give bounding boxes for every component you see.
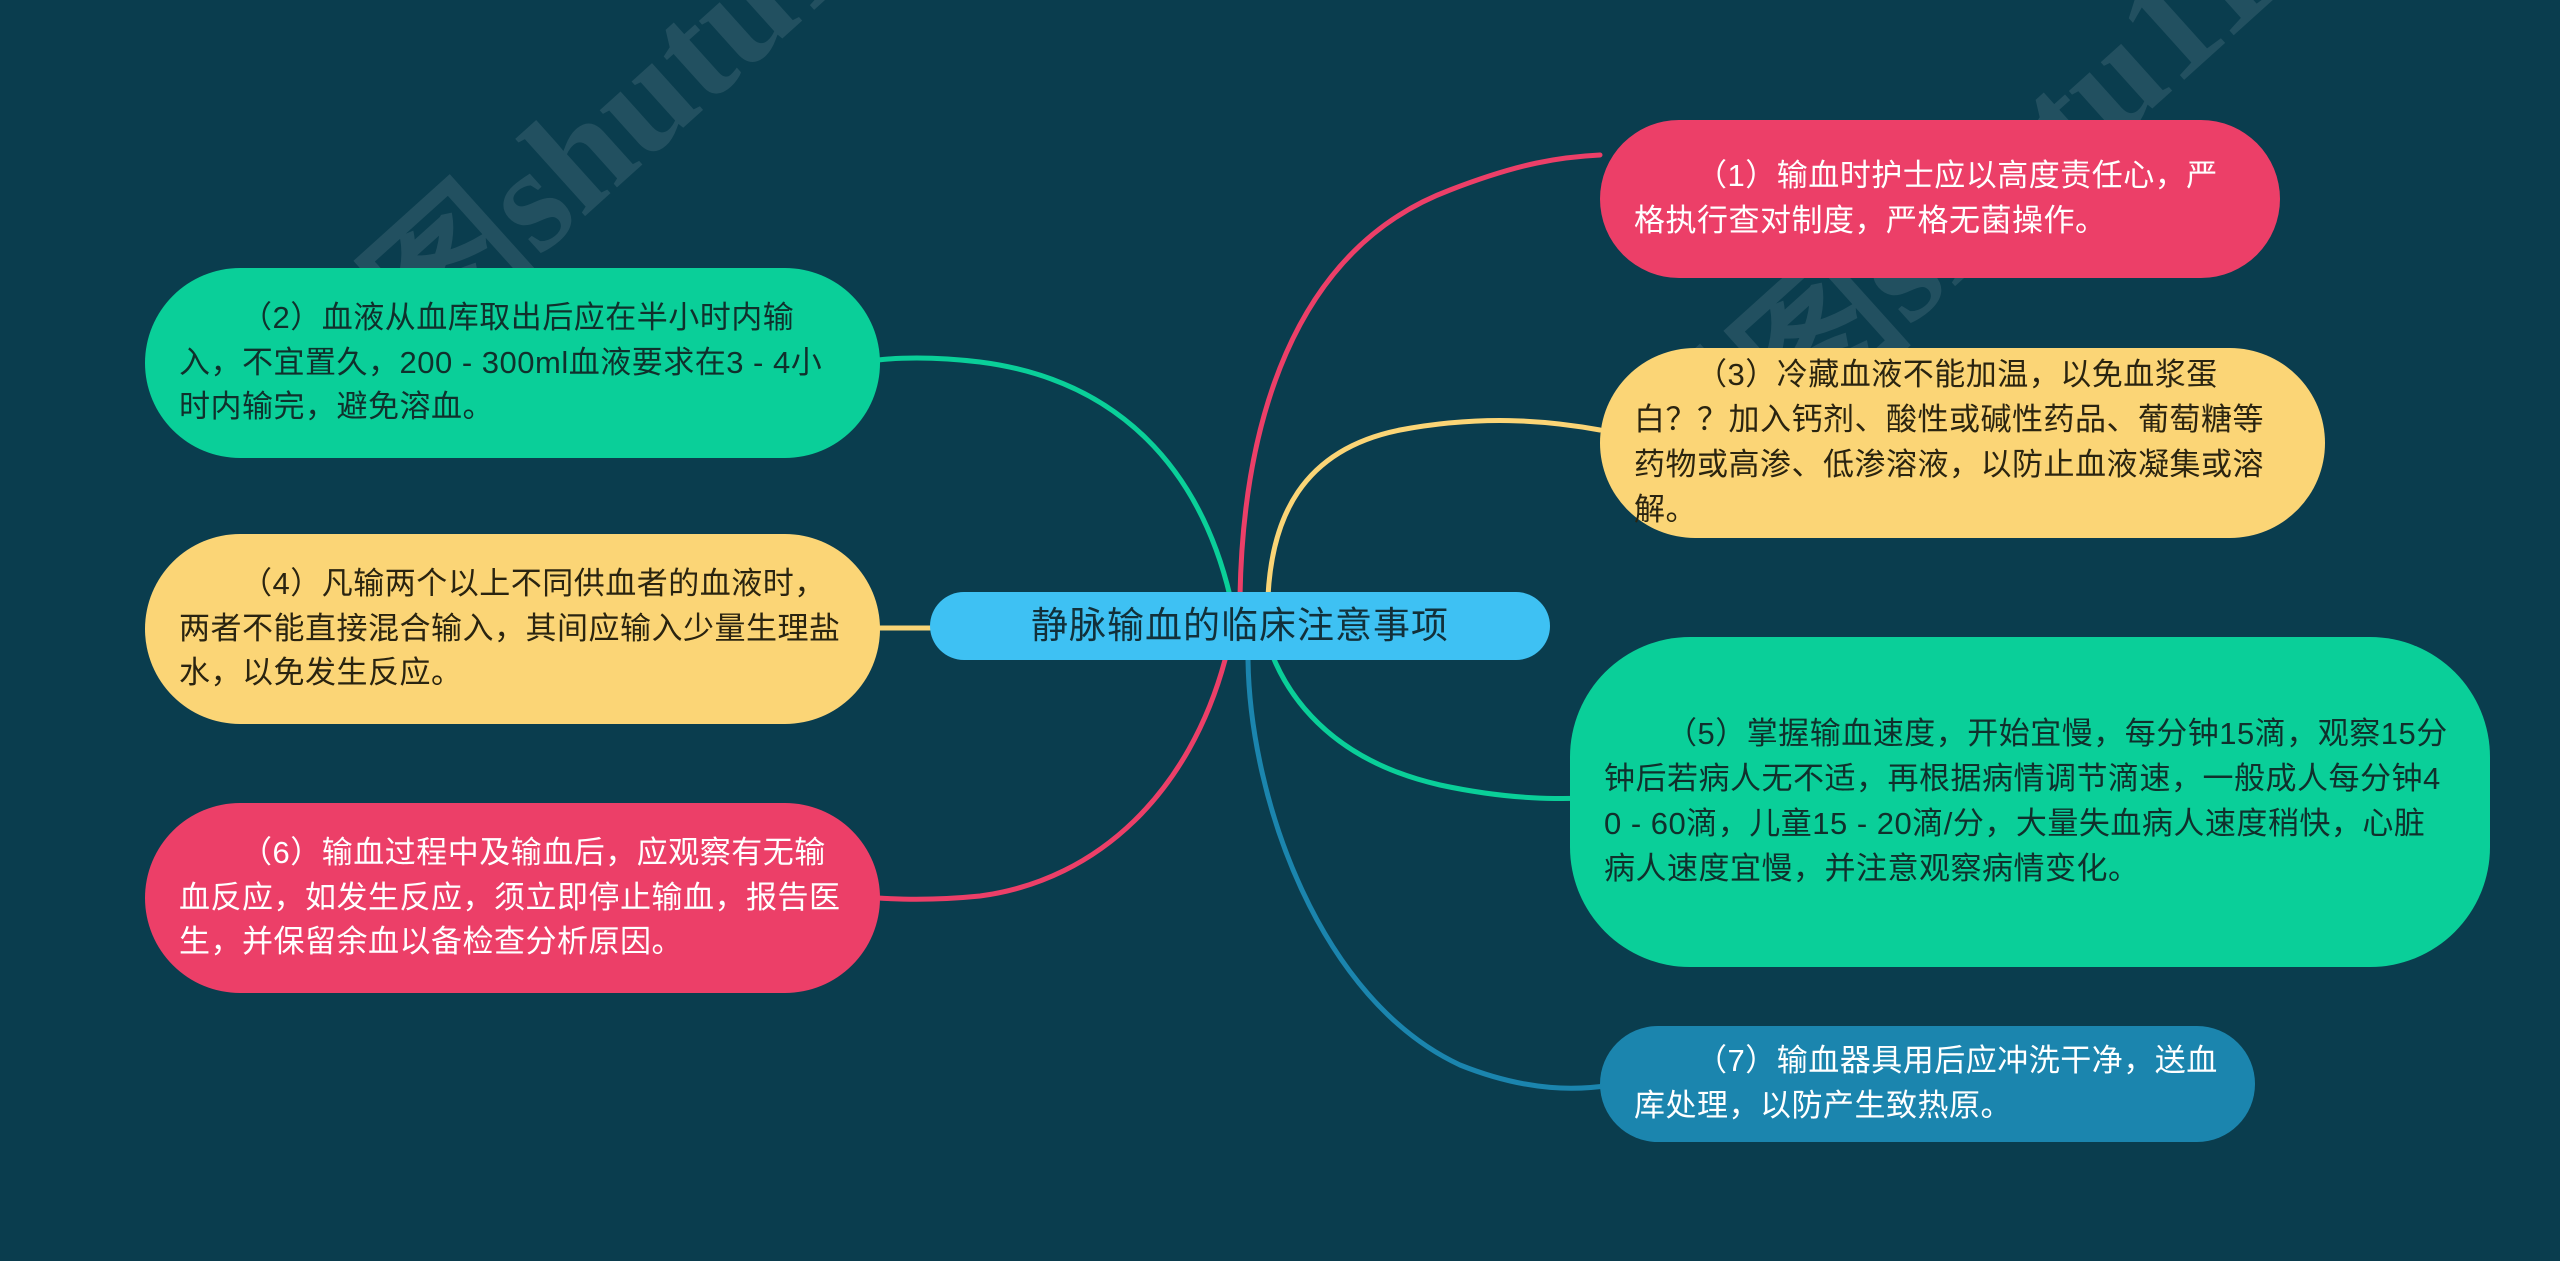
branch-node-1-label: （1）输血时护士应以高度责任心，严格执行查对制度，严格无菌操作。 bbox=[1634, 154, 2246, 244]
branch-node-5-label: （5）掌握输血速度，开始宜慢，每分钟15滴，观察15分钟后若病人无不适，再根据病… bbox=[1604, 712, 2456, 892]
connector-to-node-6 bbox=[878, 660, 1225, 899]
central-topic-node[interactable]: 静脉输血的临床注意事项 bbox=[930, 592, 1550, 660]
central-topic-label: 静脉输血的临床注意事项 bbox=[930, 599, 1550, 653]
mindmap-canvas: 树图shutu11.cn 树图shutu11.cn 静脉输血的临床注意事项 （1… bbox=[0, 0, 2560, 1261]
branch-node-6-label: （6）输血过程中及输血后，应观察有无输血反应，如发生反应，须立即停止输血，报告医… bbox=[179, 831, 846, 966]
connector-to-node-2 bbox=[878, 358, 1230, 596]
branch-node-3[interactable]: （3）冷藏血液不能加温，以免血浆蛋白？？加入钙剂、酸性或碱性药品、葡萄糖等药物或… bbox=[1600, 348, 2325, 538]
branch-node-4[interactable]: （4）凡输两个以上不同供血者的血液时，两者不能直接混合输入，其间应输入少量生理盐… bbox=[145, 534, 880, 724]
branch-node-2-label: （2）血液从血库取出后应在半小时内输入，不宜置久，200 - 300ml血液要求… bbox=[179, 296, 846, 431]
connector-to-node-1 bbox=[1240, 155, 1600, 596]
branch-node-3-label: （3）冷藏血液不能加温，以免血浆蛋白？？加入钙剂、酸性或碱性药品、葡萄糖等药物或… bbox=[1634, 353, 2291, 533]
branch-node-2[interactable]: （2）血液从血库取出后应在半小时内输入，不宜置久，200 - 300ml血液要求… bbox=[145, 268, 880, 458]
connector-to-node-3 bbox=[1268, 421, 1600, 596]
branch-node-6[interactable]: （6）输血过程中及输血后，应观察有无输血反应，如发生反应，须立即停止输血，报告医… bbox=[145, 803, 880, 993]
branch-node-7[interactable]: （7）输血器具用后应冲洗干净，送血库处理，以防产生致热原。 bbox=[1600, 1026, 2255, 1142]
branch-node-1[interactable]: （1）输血时护士应以高度责任心，严格执行查对制度，严格无菌操作。 bbox=[1600, 120, 2280, 278]
branch-node-5[interactable]: （5）掌握输血速度，开始宜慢，每分钟15滴，观察15分钟后若病人无不适，再根据病… bbox=[1570, 637, 2490, 967]
connector-to-node-7 bbox=[1248, 660, 1612, 1088]
branch-node-7-label: （7）输血器具用后应冲洗干净，送血库处理，以防产生致热原。 bbox=[1634, 1039, 2221, 1129]
branch-node-4-label: （4）凡输两个以上不同供血者的血液时，两者不能直接混合输入，其间应输入少量生理盐… bbox=[179, 562, 846, 697]
